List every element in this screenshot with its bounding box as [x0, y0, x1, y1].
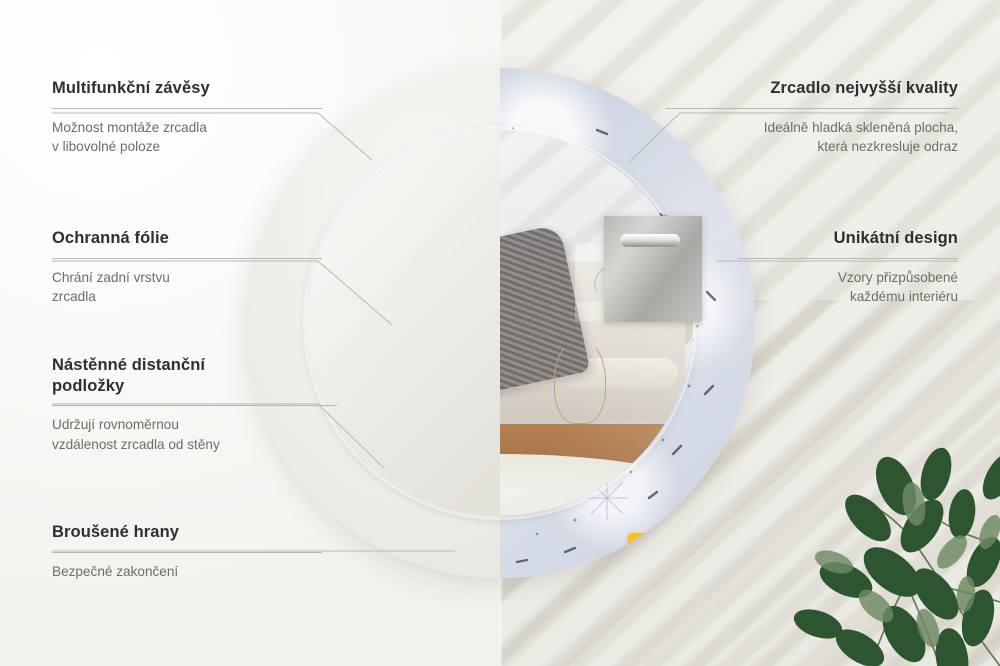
callout-title-line1: Nástěnné distanční — [52, 355, 337, 376]
callout-desc-line1: Vzory přizpůsobené — [738, 268, 958, 288]
callout-desc-line2: každému interiéru — [738, 287, 958, 307]
callout-title: Unikátní design — [738, 228, 958, 249]
infographic-canvas: Multifunkční závěsy Možnost montáže zrca… — [0, 0, 1000, 666]
callout-description: Vzory přizpůsobené každému interiéru — [738, 268, 958, 307]
bracket-keyhole-slot — [620, 234, 680, 247]
callout-rule — [52, 108, 322, 109]
callout-desc-line2: vzdálenost zrcadla od stěny — [52, 435, 337, 455]
callout-multifunkcni-zavesy: Multifunkční závěsy Možnost montáže zrca… — [52, 78, 322, 157]
callout-title: Nástěnné distanční podložky — [52, 355, 337, 396]
callout-description: Ideálně hladká skleněná plocha, která ne… — [666, 118, 958, 157]
callout-desc-line2: zrcadla — [52, 287, 322, 307]
callout-brousene-hrany: Broušené hrany Bezpečné zakončení — [52, 522, 322, 581]
callout-desc-line1: Ideálně hladká skleněná plocha, — [666, 118, 958, 138]
callout-desc-line1: Udržují rovnoměrnou — [52, 415, 337, 435]
callout-desc-line1: Bezpečné zakončení — [52, 562, 322, 582]
glass-back-cover — [307, 130, 500, 516]
callout-title: Ochranná fólie — [52, 228, 322, 249]
callout-description: Bezpečné zakončení — [52, 562, 322, 582]
callout-rule — [52, 258, 322, 259]
callout-rule — [666, 108, 958, 109]
callout-description: Možnost montáže zrcadla v libovolné polo… — [52, 118, 322, 157]
yellow-distance-pad — [628, 533, 652, 556]
callout-rule — [738, 258, 958, 259]
callout-desc-line2: která nezkresluje odraz — [666, 137, 958, 157]
callout-title: Broušené hrany — [52, 522, 322, 543]
reflected-plant-stand — [554, 338, 606, 424]
callout-desc-line1: Chrání zadní vrstvu — [52, 268, 322, 288]
callout-rule — [52, 552, 322, 553]
callout-description: Chrání zadní vrstvu zrcadla — [52, 268, 322, 307]
callout-title-line2: podložky — [52, 376, 337, 397]
callout-title: Zrcadlo nejvyšší kvality — [666, 78, 958, 99]
callout-rule — [52, 405, 337, 406]
callout-desc-line2: v libovolné poloze — [52, 137, 322, 157]
callout-zrcadlo-nejvyssi-kvality: Zrcadlo nejvyšší kvality Ideálně hladká … — [666, 78, 958, 157]
callout-ochranna-folie: Ochranná fólie Chrání zadní vrstvu zrcad… — [52, 228, 322, 307]
callout-description: Udržují rovnoměrnou vzdálenost zrcadla o… — [52, 415, 337, 454]
callout-unikatni-design: Unikátní design Vzory přizpůsobené každé… — [738, 228, 958, 307]
callout-nastenne-distancni-podlozky: Nástěnné distanční podložky Udržují rovn… — [52, 355, 337, 455]
metal-hanging-bracket — [604, 216, 702, 322]
mirror-glass — [307, 130, 693, 516]
callout-desc-line1: Možnost montáže zrcadla — [52, 118, 322, 138]
callout-title: Multifunkční závěsy — [52, 78, 322, 99]
